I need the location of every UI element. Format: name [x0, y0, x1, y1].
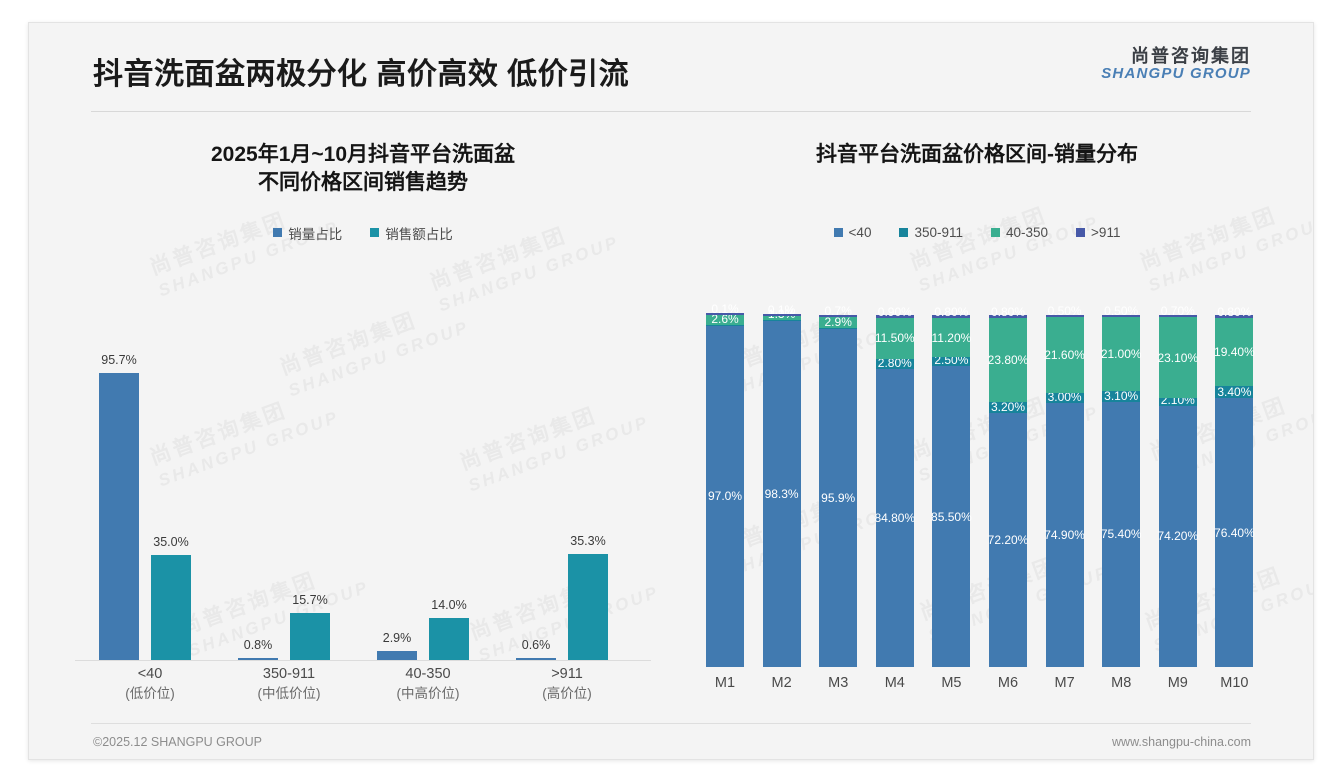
- right-chart-category-label: M9: [1152, 675, 1204, 691]
- right-chart-segment-label: 0.50%: [1104, 304, 1138, 318]
- left-chart-bar[interactable]: [568, 554, 608, 660]
- right-chart-segment-label: 0.1%: [711, 302, 738, 316]
- right-chart-category-label: M7: [1039, 675, 1091, 691]
- right-chart-segment[interactable]: 21.60%: [1046, 317, 1084, 393]
- right-chart-segment[interactable]: 2.10%: [1159, 398, 1197, 405]
- right-chart-segment[interactable]: 0.80%: [1215, 315, 1253, 318]
- left-chart-category-range: 40-350: [363, 665, 493, 685]
- right-chart-segment[interactable]: 84.80%: [876, 369, 914, 667]
- right-chart-segment[interactable]: 11.20%: [932, 318, 970, 357]
- right-chart-segment[interactable]: 23.10%: [1159, 317, 1197, 398]
- footer-divider: [91, 723, 1251, 724]
- left-chart-x-axis-labels: <40(低价位)350-911(中低价位)40-350(中高价位)>911(高价…: [63, 665, 663, 723]
- right-chart-segment-label: 0.70%: [1161, 304, 1195, 318]
- legend-swatch-icon: [370, 228, 379, 237]
- left-chart-plot: 95.7%35.0%0.8%15.7%2.9%14.0%0.6%35.3%: [63, 331, 663, 661]
- header-divider: [91, 111, 1251, 112]
- left-chart-title: 2025年1月~10月抖音平台洗面盆 不同价格区间销售趋势: [63, 141, 663, 197]
- left-chart-value-label: 0.8%: [217, 638, 299, 652]
- right-chart-segment-label: 3.40%: [1217, 385, 1251, 399]
- right-chart-segment[interactable]: 11.50%: [876, 318, 914, 358]
- right-chart-category-label: M3: [812, 675, 864, 691]
- left-chart-bar-group: 95.7%35.0%: [85, 360, 215, 660]
- left-chart-title-line2: 不同价格区间销售趋势: [63, 169, 663, 197]
- left-chart-category-label: 350-911(中低价位): [224, 665, 354, 703]
- left-chart-bar[interactable]: [429, 618, 469, 660]
- right-chart-stacked-column: 95.9%0.5%2.9%0.7%: [812, 315, 864, 667]
- left-chart-value-label: 35.3%: [547, 534, 629, 548]
- logo-text-en: SHANGPU GROUP: [1101, 66, 1251, 82]
- page-title: 抖音洗面盆两极分化 高价高效 低价引流: [93, 49, 629, 93]
- right-chart-segment[interactable]: 19.40%: [1215, 318, 1253, 386]
- right-chart-segment-label: 0.90%: [878, 305, 912, 319]
- right-chart-stacked-column: 98.3%0.2%1.3%0.1%: [756, 315, 808, 667]
- right-chart-title-text: 抖音平台洗面盆价格区间-销量分布: [816, 143, 1138, 166]
- right-chart-legend: <40350-91140-350>911: [677, 225, 1277, 240]
- right-chart-segment-label: 0.80%: [1217, 305, 1251, 319]
- left-chart-bar-group: 0.6%35.3%: [502, 360, 632, 660]
- right-chart-segment-label: 74.90%: [1044, 528, 1085, 542]
- right-chart-plot: 97.0%0.3%2.6%0.1%98.3%0.2%1.3%0.1%95.9%0…: [699, 315, 1265, 667]
- legend-swatch-icon: [899, 228, 908, 237]
- left-chart-category-tier: (低价位): [85, 685, 215, 703]
- right-chart-segment[interactable]: 97.0%: [706, 326, 744, 667]
- right-chart-stacked-column: 72.20%3.20%23.80%0.80%: [982, 315, 1034, 667]
- footer-copyright: ©2025.12 SHANGPU GROUP: [93, 735, 262, 749]
- right-chart-stack: 84.80%2.80%11.50%0.90%: [876, 315, 914, 667]
- left-chart-legend-item[interactable]: 销量占比: [273, 223, 342, 243]
- right-chart-stack: 85.50%2.50%11.20%0.80%: [932, 315, 970, 667]
- right-chart-segment[interactable]: 74.20%: [1159, 406, 1197, 667]
- left-chart-bar-group: 2.9%14.0%: [363, 360, 493, 660]
- right-chart-segment-label: 0.80%: [991, 305, 1025, 319]
- left-chart-category-range: <40: [85, 665, 215, 685]
- left-chart-panel: 2025年1月~10月抖音平台洗面盆 不同价格区间销售趋势 销量占比销售额占比 …: [63, 119, 663, 709]
- right-chart-segment[interactable]: 75.40%: [1102, 402, 1140, 667]
- right-chart-segment[interactable]: 3.40%: [1215, 386, 1253, 398]
- right-chart-segment[interactable]: 0.7%: [819, 315, 857, 317]
- left-chart-bar[interactable]: [99, 373, 139, 660]
- left-chart-value-label: 2.9%: [356, 631, 438, 645]
- right-chart-legend-label: >911: [1091, 225, 1120, 240]
- right-chart-segment-label: 11.20%: [931, 331, 971, 345]
- right-chart-segment[interactable]: 76.40%: [1215, 398, 1253, 667]
- brand-logo: 尚普咨询集团 SHANGPU GROUP: [1101, 47, 1251, 82]
- right-chart-segment-label: 0.50%: [1048, 304, 1082, 318]
- logo-text-cn: 尚普咨询集团: [1101, 47, 1251, 66]
- right-chart-segment-label: 76.40%: [1214, 526, 1255, 540]
- right-chart-category-label: M10: [1208, 675, 1260, 691]
- right-chart-segment-label: 3.20%: [991, 400, 1025, 414]
- right-chart-segment[interactable]: 3.00%: [1046, 393, 1084, 404]
- right-chart-segment[interactable]: 0.50%: [1046, 315, 1084, 317]
- left-chart-value-label: 15.7%: [269, 593, 351, 607]
- legend-swatch-icon: [273, 228, 282, 237]
- right-chart-segment[interactable]: 3.20%: [989, 402, 1027, 413]
- right-chart-segment[interactable]: 3.10%: [1102, 391, 1140, 402]
- right-chart-stacked-column: 75.40%3.10%21.00%0.50%: [1095, 315, 1147, 667]
- right-chart-segment-label: 72.20%: [988, 533, 1029, 547]
- left-chart-legend-label: 销量占比: [288, 223, 342, 243]
- left-chart-title-line1: 2025年1月~10月抖音平台洗面盆: [211, 143, 515, 166]
- right-chart-stack: 75.40%3.10%21.00%0.50%: [1102, 315, 1140, 667]
- left-chart-bar[interactable]: [377, 651, 417, 660]
- right-chart-x-axis-labels: M1M2M3M4M5M6M7M8M9M10: [699, 675, 1265, 701]
- right-chart-stacked-column: 74.90%3.00%21.60%0.50%: [1039, 315, 1091, 667]
- right-chart-category-label: M5: [925, 675, 977, 691]
- right-chart-panel: 抖音平台洗面盆价格区间-销量分布 <40350-91140-350>911 97…: [677, 119, 1277, 709]
- right-chart-segment-label: 11.50%: [875, 331, 915, 345]
- right-chart-title: 抖音平台洗面盆价格区间-销量分布: [677, 141, 1277, 169]
- right-chart-segment-label: 21.00%: [1101, 347, 1142, 361]
- left-chart-value-label: 0.6%: [495, 638, 577, 652]
- right-chart-segment-label: 75.40%: [1101, 527, 1142, 541]
- right-chart-segment[interactable]: 21.00%: [1102, 317, 1140, 391]
- left-chart-bar[interactable]: [290, 613, 330, 660]
- right-chart-segment[interactable]: 2.6%: [706, 315, 744, 324]
- slide-canvas: 抖音洗面盆两极分化 高价高效 低价引流 尚普咨询集团 SHANGPU GROUP…: [28, 22, 1314, 760]
- right-chart-segment-label: 98.3%: [765, 487, 799, 501]
- right-chart-segment[interactable]: 0.50%: [1102, 315, 1140, 317]
- right-chart-segment-label: 0.80%: [934, 305, 968, 319]
- right-chart-segment[interactable]: 0.1%: [763, 314, 801, 316]
- right-chart-segment[interactable]: 95.9%: [819, 329, 857, 667]
- right-chart-segment-label: 97.0%: [708, 489, 742, 503]
- right-chart-category-label: M4: [869, 675, 921, 691]
- footer-website: www.shangpu-china.com: [1112, 735, 1251, 749]
- right-chart-legend-item[interactable]: <40: [834, 225, 872, 240]
- right-chart-legend-label: 40-350: [1006, 225, 1048, 240]
- left-chart-legend: 销量占比销售额占比: [63, 223, 663, 243]
- right-chart-segment[interactable]: 98.3%: [763, 321, 801, 667]
- right-chart-segment-label: 19.40%: [1214, 345, 1255, 359]
- right-chart-legend-item[interactable]: >911: [1076, 225, 1120, 240]
- right-chart-segment[interactable]: 72.20%: [989, 413, 1027, 667]
- right-chart-legend-item[interactable]: 40-350: [991, 225, 1048, 240]
- right-chart-segment-label: 23.80%: [988, 353, 1029, 367]
- right-chart-segment-label: 95.9%: [821, 491, 855, 505]
- right-chart-segment-label: 84.80%: [874, 511, 915, 525]
- right-chart-segment[interactable]: 0.80%: [989, 315, 1027, 318]
- left-chart-category-range: 350-911: [224, 665, 354, 685]
- right-chart-stack: 98.3%0.2%1.3%0.1%: [763, 315, 801, 667]
- right-chart-stack: 95.9%0.5%2.9%0.7%: [819, 315, 857, 667]
- left-chart-category-range: >911: [502, 665, 632, 685]
- right-chart-category-label: M2: [756, 675, 808, 691]
- right-chart-category-label: M6: [982, 675, 1034, 691]
- right-chart-segment[interactable]: 0.70%: [1159, 315, 1197, 317]
- left-chart-bar-group: 0.8%15.7%: [224, 360, 354, 660]
- right-chart-legend-label: <40: [849, 225, 872, 240]
- right-chart-legend-item[interactable]: 350-911: [899, 225, 963, 240]
- right-chart-stacked-column: 97.0%0.3%2.6%0.1%: [699, 315, 751, 667]
- legend-swatch-icon: [834, 228, 843, 237]
- right-chart-segment-label: 3.10%: [1104, 389, 1138, 403]
- right-chart-segment[interactable]: 2.9%: [819, 317, 857, 327]
- right-chart-stacked-column: 85.50%2.50%11.20%0.80%: [925, 315, 977, 667]
- left-chart-legend-item[interactable]: 销售额占比: [370, 223, 453, 243]
- slide-header: 抖音洗面盆两极分化 高价高效 低价引流 尚普咨询集团 SHANGPU GROUP: [29, 23, 1313, 111]
- right-chart-segment-label: 0.1%: [768, 303, 795, 317]
- right-chart-stack: 97.0%0.3%2.6%0.1%: [706, 315, 744, 667]
- left-chart-bar[interactable]: [516, 658, 556, 660]
- left-chart-value-label: 95.7%: [78, 353, 160, 367]
- right-chart-segment[interactable]: 0.80%: [932, 315, 970, 318]
- legend-swatch-icon: [991, 228, 1000, 237]
- left-chart-value-label: 35.0%: [130, 535, 212, 549]
- right-chart-stacked-column: 76.40%3.40%19.40%0.80%: [1208, 315, 1260, 667]
- left-chart-category-tier: (中低价位): [224, 685, 354, 703]
- right-chart-stack: 74.90%3.00%21.60%0.50%: [1046, 315, 1084, 667]
- right-chart-segment[interactable]: 74.90%: [1046, 403, 1084, 667]
- right-chart-segment[interactable]: 23.80%: [989, 318, 1027, 402]
- right-chart-segment-label: 23.10%: [1157, 351, 1198, 365]
- right-chart-segment-label: 74.20%: [1157, 529, 1198, 543]
- legend-swatch-icon: [1076, 228, 1085, 237]
- right-chart-category-label: M1: [699, 675, 751, 691]
- left-chart-legend-label: 销售额占比: [385, 223, 453, 243]
- right-chart-segment[interactable]: 0.1%: [706, 313, 744, 315]
- right-chart-segment[interactable]: 2.50%: [932, 357, 970, 366]
- right-chart-stack: 74.20%2.10%23.10%0.70%: [1159, 315, 1197, 667]
- left-chart-category-tier: (高价位): [502, 685, 632, 703]
- right-chart-category-label: M8: [1095, 675, 1147, 691]
- left-chart-bar[interactable]: [238, 658, 278, 660]
- left-chart-category-tier: (中高价位): [363, 685, 493, 703]
- left-chart-category-label: >911(高价位): [502, 665, 632, 703]
- left-chart-category-label: 40-350(中高价位): [363, 665, 493, 703]
- right-chart-segment-label: 21.60%: [1044, 348, 1085, 362]
- right-chart-stack: 72.20%3.20%23.80%0.80%: [989, 315, 1027, 667]
- right-chart-stacked-column: 84.80%2.80%11.50%0.90%: [869, 315, 921, 667]
- right-chart-stack: 76.40%3.40%19.40%0.80%: [1215, 315, 1253, 667]
- left-chart-axis-line: [75, 660, 651, 661]
- right-chart-segment-label: 0.7%: [825, 304, 852, 318]
- right-chart-segment[interactable]: 85.50%: [932, 366, 970, 667]
- left-chart-category-label: <40(低价位): [85, 665, 215, 703]
- left-chart-value-label: 14.0%: [408, 598, 490, 612]
- left-chart-bar[interactable]: [151, 555, 191, 660]
- right-chart-legend-label: 350-911: [914, 225, 963, 240]
- right-chart-segment-label: 85.50%: [931, 510, 972, 524]
- right-chart-stacked-column: 74.20%2.10%23.10%0.70%: [1152, 315, 1204, 667]
- right-chart-segment[interactable]: 2.80%: [876, 359, 914, 369]
- right-chart-segment[interactable]: 0.90%: [876, 315, 914, 318]
